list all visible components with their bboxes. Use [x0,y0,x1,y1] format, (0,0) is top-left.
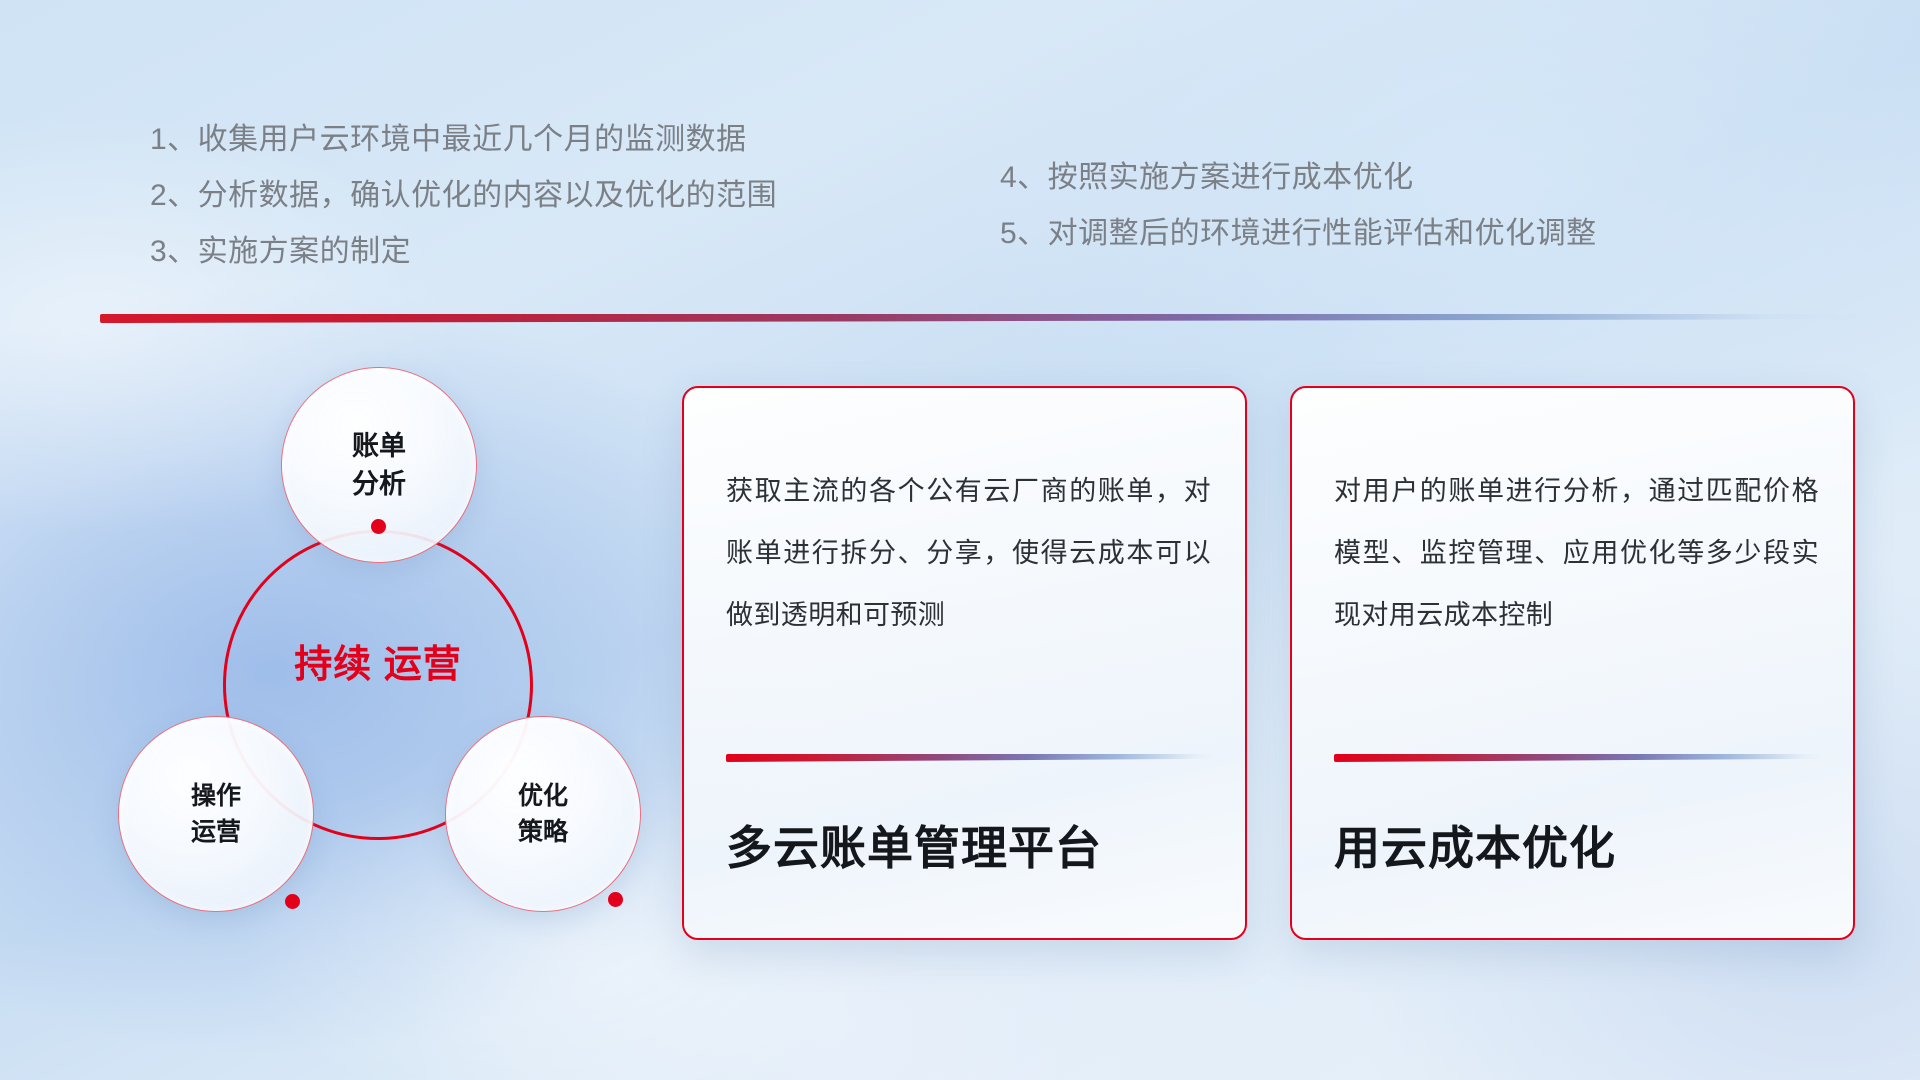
card-body-text: 对用户的账单进行分析，通过匹配价格模型、监控管理、应用优化等多少段实现对用云成本… [1334,460,1819,646]
diagram-node-dot-right [608,892,623,907]
card-accent-rule [726,754,1216,762]
diagram-node-dot-left [285,894,300,909]
step-item-2: 2、分析数据，确认优化的内容以及优化的范围 [150,168,777,224]
card-title: 用云成本优化 [1334,812,1616,878]
diagram-node-dot-top [371,519,386,534]
step-item-4: 4、按照实施方案进行成本优化 [1000,150,1597,206]
bubble-label-line1: 账单 [352,427,406,465]
card-accent-rule [1334,754,1824,762]
steps-list-right: 4、按照实施方案进行成本优化 5、对调整后的环境进行性能评估和优化调整 [1000,150,1597,262]
bubble-label-line2: 策略 [518,814,568,850]
slide-canvas: 1、收集用户云环境中最近几个月的监测数据 2、分析数据，确认优化的内容以及优化的… [0,0,1920,1080]
bubble-label-line1: 优化 [518,778,568,814]
bubble-label-line1: 操作 [191,778,241,814]
card-body-text: 获取主流的各个公有云厂商的账单，对账单进行拆分、分享，使得云成本可以做到透明和可… [726,460,1211,646]
center-label-line2: 运营 [384,644,462,686]
center-label-line1: 持续 [294,644,372,686]
bubble-label-line2: 运营 [191,814,241,850]
step-item-3: 3、实施方案的制定 [150,224,777,280]
diagram-bubble-optimization-strategy[interactable]: 优化 策略 [445,716,641,912]
feature-card-cost-optimization[interactable]: 对用户的账单进行分析，通过匹配价格模型、监控管理、应用优化等多少段实现对用云成本… [1290,386,1855,940]
step-item-1: 1、收集用户云环境中最近几个月的监测数据 [150,112,777,168]
bubble-label-line2: 分析 [352,465,406,503]
steps-list-left: 1、收集用户云环境中最近几个月的监测数据 2、分析数据，确认优化的内容以及优化的… [150,112,777,280]
feature-card-multicloud-billing[interactable]: 获取主流的各个公有云厂商的账单，对账单进行拆分、分享，使得云成本可以做到透明和可… [682,386,1247,940]
diagram-center-label: 持续 运营 [285,642,471,689]
diagram-bubble-operations[interactable]: 操作 运营 [118,716,314,912]
step-item-5: 5、对调整后的环境进行性能评估和优化调整 [1000,206,1597,262]
card-title: 多云账单管理平台 [726,812,1102,878]
cycle-diagram: 账单 分析 操作 运营 优化 策略 持续 运营 [95,352,655,952]
section-divider [100,314,1870,323]
